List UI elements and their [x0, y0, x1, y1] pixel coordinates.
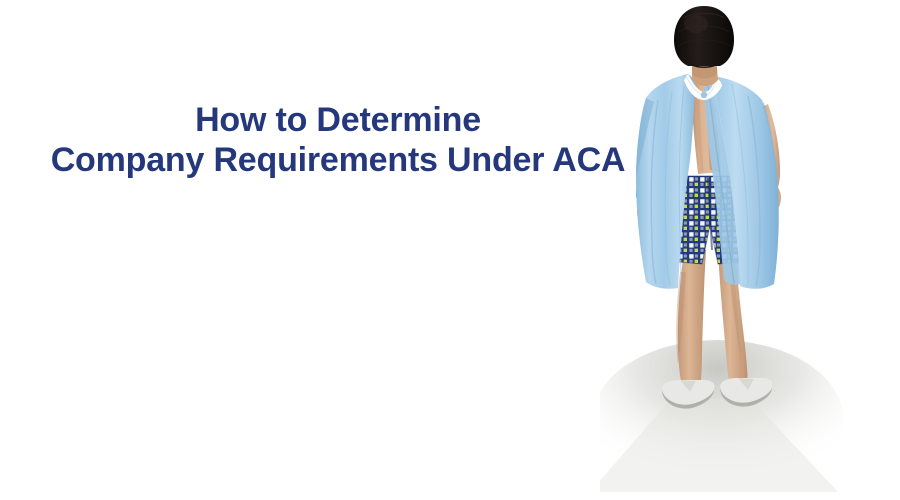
hospital-gown-illustration	[600, 0, 900, 500]
page-title-line-1: How to Determine	[0, 100, 676, 140]
gown-neck-tie	[701, 92, 707, 98]
page-title: How to Determine Company Requirements Un…	[0, 100, 676, 180]
page-title-line-2: Company Requirements Under ACA	[0, 140, 676, 180]
aca-requirements-banner: How to Determine Company Requirements Un…	[0, 0, 900, 500]
head	[674, 6, 734, 66]
hospital-gown-photo	[600, 0, 900, 500]
